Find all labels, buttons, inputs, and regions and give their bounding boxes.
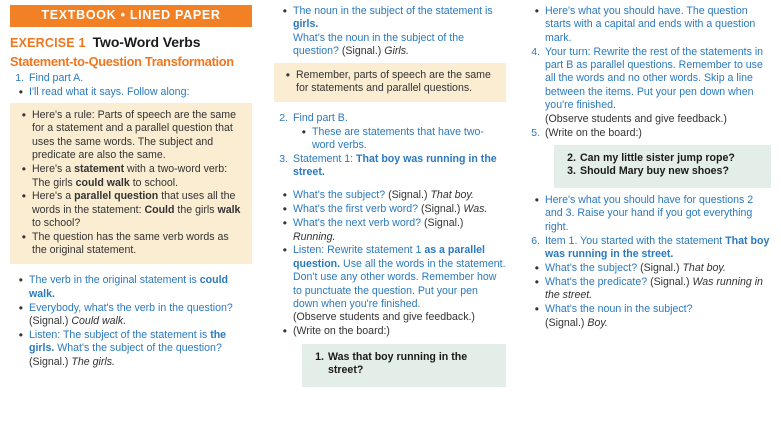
item-text: What's the predicate? (Signal.) Was runn… (545, 276, 771, 303)
list-item: • What's the subject? (Signal.) That boy… (526, 262, 771, 275)
list-item: 3. Statement 1: That boy was running in … (274, 153, 506, 180)
text-run: Your turn: Rewrite the rest of the state… (545, 46, 763, 112)
bullet-icon: • (10, 329, 29, 342)
signal-cue: (Signal.) (29, 356, 71, 368)
text-run: Here's a (32, 190, 74, 202)
text-run: to school? (32, 217, 80, 229)
bullet-icon: • (274, 203, 293, 216)
item-text: The verb in the original statement is co… (29, 274, 252, 301)
list-item: 4. Your turn: Rewrite the rest of the st… (526, 46, 771, 126)
spacer (274, 180, 506, 189)
item-text: Item 1. You started with the statement T… (545, 235, 771, 262)
text-run: What's the subject? (545, 262, 640, 274)
text-run: Statement 1: (293, 153, 356, 165)
teacher-direction: (Observe students and give feedback.) (545, 113, 727, 125)
signal-cue: (Signal.) (424, 217, 463, 229)
text-run-bold: parallel question (74, 190, 158, 202)
bullet-icon: • (13, 231, 32, 244)
bullet-icon: • (526, 194, 545, 207)
bullet-icon: • (526, 5, 545, 18)
list-item: • The verb in the original statement is … (10, 274, 252, 301)
list-item: • Everybody, what's the verb in the ques… (10, 302, 252, 329)
item-number: 6. (526, 235, 545, 248)
list-item: • The question has the same verb words a… (13, 231, 246, 258)
exercise-label: EXERCISE 1 (10, 36, 86, 50)
board-line: 1. Was that boy running in the street? (310, 351, 498, 378)
item-text: These are statements that have two-word … (312, 126, 506, 153)
signal-cue: (Signal.) (342, 45, 384, 57)
text-run: Listen: The subject of the statement is (29, 329, 210, 341)
signal-cue: (Signal.) (388, 189, 430, 201)
bullet-icon: • (293, 126, 312, 139)
board-line-number: 2. (562, 152, 580, 166)
board-line-number: 3. (562, 165, 580, 179)
item-number: 2. (274, 112, 293, 125)
bullet-icon: • (274, 189, 293, 202)
bullet-icon: • (274, 325, 293, 338)
list-item: • What's the subject? (Signal.) That boy… (274, 189, 506, 202)
board-line-text: Should Mary buy new shoes? (580, 165, 763, 179)
item-text: Here's what you should have for question… (545, 194, 771, 234)
column-right: • Here's what you should have. The quest… (514, 0, 781, 421)
list-item: 6. Item 1. You started with the statemen… (526, 235, 771, 262)
item-text: Find part B. (293, 112, 506, 125)
list-item: • Listen: Rewrite statement 1 as a paral… (274, 244, 506, 324)
text-run-bold: girls. (293, 18, 318, 30)
cream-callout-box: • Here's a rule: Parts of speech are the… (10, 103, 252, 264)
item-text: What's the first verb word? (Signal.) Wa… (293, 203, 506, 216)
list-item: • Here's what you should have. The quest… (526, 5, 771, 45)
board-line: 2. Can my little sister jump rope? (562, 152, 763, 166)
student-response: Girls. (384, 45, 409, 57)
board-line-number: 1. (310, 351, 328, 365)
list-item: • Listen: The subject of the statement i… (10, 329, 252, 369)
column-middle: • The noun in the subject of the stateme… (262, 0, 514, 421)
bullet-icon: • (274, 5, 293, 18)
item-text: What's the subject? (Signal.) That boy. (293, 189, 506, 202)
list-item: • What's the next verb word? (Signal.) R… (274, 217, 506, 244)
list-item: • (Write on the board:) (274, 325, 506, 338)
student-response: That boy. (682, 262, 725, 274)
item-number: 1. (10, 72, 29, 85)
text-run: What's the predicate? (545, 276, 650, 288)
text-run: What's the next verb word? (293, 217, 424, 229)
text-run: What's the noun in the subject? (545, 303, 693, 315)
bullet-icon: • (277, 69, 296, 82)
board-write-box: 1. Was that boy running in the street? (302, 344, 506, 387)
bullet-icon: • (10, 86, 29, 99)
item-text: Statement 1: That boy was running in the… (293, 153, 506, 180)
list-item: • Here's a statement with a two-word ver… (13, 163, 246, 190)
item-text: Here's a statement with a two-word verb:… (32, 163, 246, 190)
list-item: • Here's a parallel question that uses a… (13, 190, 246, 230)
student-response: Boy. (587, 317, 607, 329)
text-run: Everybody, what's the verb in the questi… (29, 302, 233, 314)
item-text: The noun in the subject of the statement… (293, 5, 506, 59)
text-run: The noun in the subject of the statement… (293, 5, 493, 17)
text-run: Listen: Rewrite statement 1 (293, 244, 424, 256)
bullet-icon: • (274, 244, 293, 257)
list-item: 1. Find part A. (10, 72, 252, 85)
student-response: That boy. (430, 189, 473, 201)
signal-cue: (Signal.) (545, 317, 587, 329)
item-number: 4. (526, 46, 545, 59)
text-run-bold: statement (74, 163, 124, 175)
list-item: • The noun in the subject of the stateme… (274, 5, 506, 59)
text-run: What's the subject? (293, 189, 388, 201)
item-text: (Write on the board:) (545, 127, 771, 140)
item-text: The question has the same verb words as … (32, 231, 246, 258)
text-run-bold: Could (144, 204, 174, 216)
bullet-icon: • (526, 276, 545, 289)
list-item: • Here's a rule: Parts of speech are the… (13, 109, 246, 163)
text-run: to school. (130, 177, 178, 189)
text-run: Item 1. You started with the statement (545, 235, 725, 247)
list-item: • Here's what you should have for questi… (526, 194, 771, 234)
teacher-direction: (Observe students and give feedback.) (293, 311, 475, 323)
signal-cue: (Signal.) (29, 315, 71, 327)
board-write-box: 2. Can my little sister jump rope? 3. Sh… (554, 145, 771, 188)
item-text: I'll read what it says. Follow along: (29, 86, 252, 99)
cream-callout-box: • Remember, parts of speech are the same… (274, 63, 506, 102)
text-run-bold: could walk (76, 177, 130, 189)
bullet-icon: • (13, 109, 32, 122)
bullet-icon: • (526, 303, 545, 316)
list-item: • Remember, parts of speech are the same… (277, 69, 500, 96)
bullet-icon: • (526, 262, 545, 275)
text-run: What's the subject of the question? (54, 342, 222, 354)
text-run: What's the first verb word? (293, 203, 421, 215)
text-run-bold: walk (217, 204, 240, 216)
text-run: The verb in the original statement is (29, 274, 200, 286)
list-item: • These are statements that have two-wor… (293, 126, 506, 153)
list-item: • What's the first verb word? (Signal.) … (274, 203, 506, 216)
bullet-icon: • (10, 274, 29, 287)
item-text: Your turn: Rewrite the rest of the state… (545, 46, 771, 126)
bullet-icon: • (13, 163, 32, 176)
item-text: Listen: The subject of the statement is … (29, 329, 252, 369)
board-line: 3. Should Mary buy new shoes? (562, 165, 763, 179)
item-number: 5. (526, 127, 545, 140)
text-run: Here's a rule: Parts of speech are the s… (32, 109, 236, 161)
item-text: Listen: Rewrite statement 1 as a paralle… (293, 244, 506, 324)
item-text: What's the noun in the subject? (Signal.… (545, 303, 771, 330)
signal-cue: (Signal.) (421, 203, 463, 215)
column-left: TEXTBOOK • LINED PAPER EXERCISE 1Two-Wor… (0, 0, 262, 421)
text-run: the girls (174, 204, 217, 216)
item-text: (Write on the board:) (293, 325, 506, 338)
list-item: 2. Find part B. (274, 112, 506, 125)
student-response: Was. (463, 203, 487, 215)
signal-cue: (Signal.) (650, 276, 692, 288)
signal-cue: (Signal.) (640, 262, 682, 274)
item-text: Remember, parts of speech are the same f… (296, 69, 500, 96)
item-text: Find part A. (29, 72, 252, 85)
student-response: The girls. (71, 356, 115, 368)
exercise-heading: EXERCISE 1Two-Word Verbs (10, 34, 252, 52)
bullet-icon: • (13, 190, 32, 203)
item-text: Everybody, what's the verb in the questi… (29, 302, 252, 329)
bullet-icon: • (10, 302, 29, 315)
item-text: What's the subject? (Signal.) That boy. (545, 262, 771, 275)
exercise-title: Two-Word Verbs (93, 34, 201, 50)
bullet-icon: • (274, 217, 293, 230)
board-line-text: Was that boy running in the street? (328, 351, 498, 378)
item-text: Here's what you should have. The questio… (545, 5, 771, 45)
exercise-subtitle: Statement-to-Question Transformation (10, 55, 252, 70)
textbook-page: TEXTBOOK • LINED PAPER EXERCISE 1Two-Wor… (0, 0, 781, 421)
item-text: Here's a rule: Parts of speech are the s… (32, 109, 246, 163)
text-run: Here's a (32, 163, 74, 175)
list-item: • I'll read what it says. Follow along: (10, 86, 252, 99)
board-line-text: Can my little sister jump rope? (580, 152, 763, 166)
student-response: Running. (293, 231, 335, 243)
item-number: 3. (274, 153, 293, 166)
list-item: • What's the predicate? (Signal.) Was ru… (526, 276, 771, 303)
section-banner: TEXTBOOK • LINED PAPER (10, 5, 252, 27)
student-response: Could walk. (71, 315, 126, 327)
item-text: What's the next verb word? (Signal.) Run… (293, 217, 506, 244)
list-item: • What's the noun in the subject? (Signa… (526, 303, 771, 330)
item-text: Here's a parallel question that uses all… (32, 190, 246, 230)
list-item: 5. (Write on the board:) (526, 127, 771, 140)
